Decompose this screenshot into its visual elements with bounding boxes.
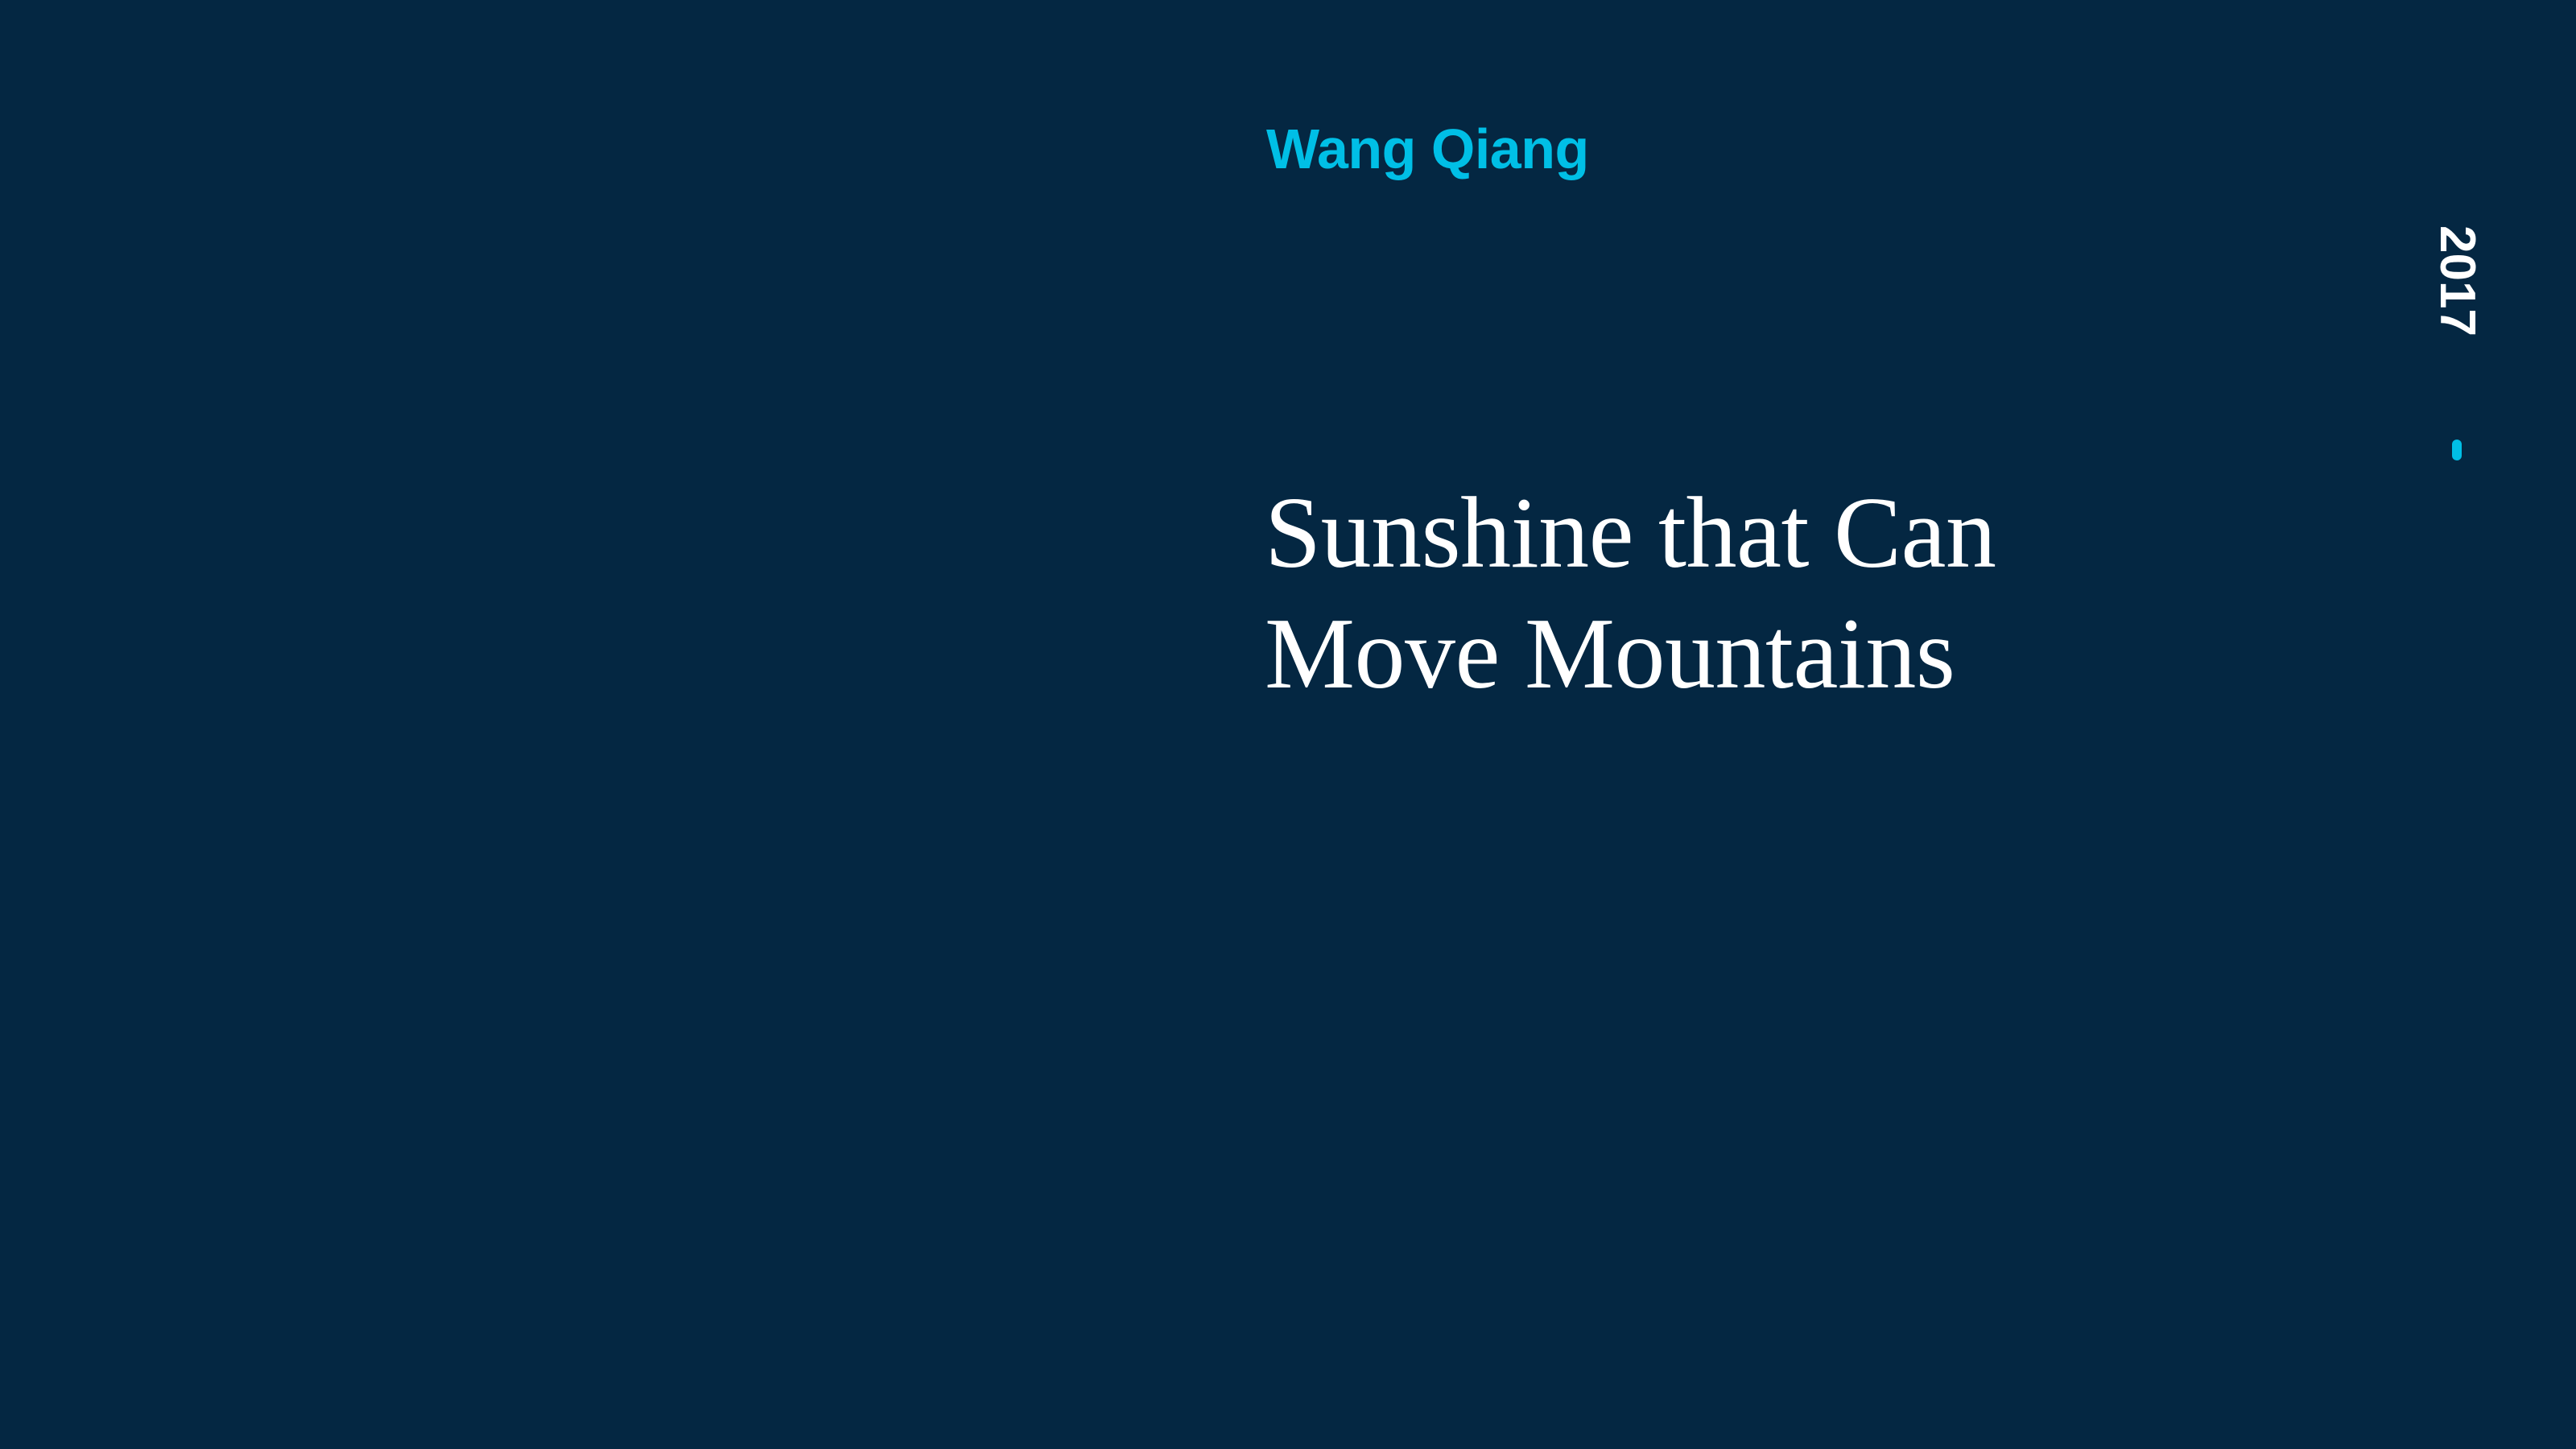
talk-title: Sunshine that Can Move Mountains: [1265, 473, 2311, 715]
title-slide: Wang Qiang Sunshine that Can Move Mounta…: [0, 0, 2576, 1449]
year-rail: 2017: [2428, 225, 2486, 460]
year-label: 2017: [2432, 225, 2482, 336]
talk-title-line-2: Move Mountains: [1265, 594, 2311, 715]
talk-title-line-1: Sunshine that Can: [1265, 473, 2311, 594]
separator-dash-icon: [2452, 440, 2462, 460]
speaker-name: Wang Qiang: [1266, 121, 1589, 177]
